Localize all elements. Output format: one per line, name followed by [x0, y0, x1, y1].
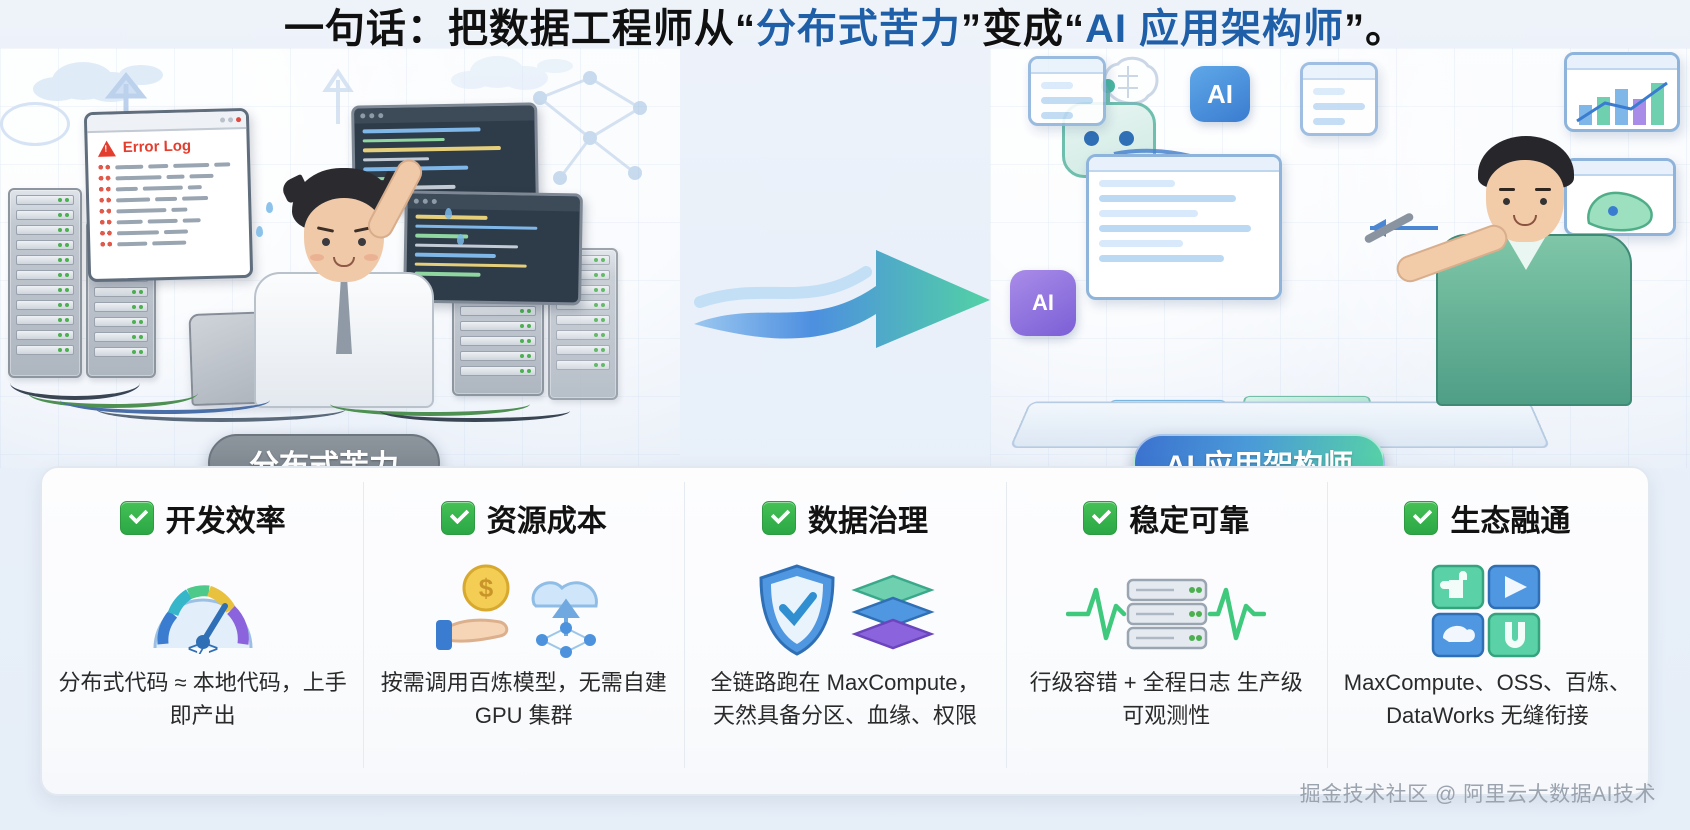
title-quote-open-2: “ — [1064, 7, 1085, 51]
check-icon — [1083, 501, 1117, 535]
puzzle-integration-icon — [1427, 560, 1547, 660]
card-header: 生态融通 — [1404, 496, 1570, 540]
illustration-left-before: Error Log — [0, 48, 680, 468]
stressed-engineer-figure — [248, 168, 458, 408]
benefit-card-ecosystem: 生态融通 MaxCompute、OSS、百炼、DataWorks 无缝衔接 — [1327, 468, 1648, 794]
label-pill-after: AI 应用架构师 — [1133, 434, 1385, 468]
bar-chart-icon — [1575, 77, 1675, 127]
card-title: 数据治理 — [808, 496, 928, 540]
benefits-card-panel: 开发效率 </> 分布式代码 ≈ 本地代码，上手即产出 — [40, 466, 1650, 796]
face — [304, 198, 384, 282]
main-dashboard-panel — [1086, 154, 1282, 300]
card-description: 按需调用百炼模型，无需自建 GPU 集群 — [379, 666, 669, 732]
title-quote-open: “ — [735, 7, 756, 51]
illustration-right-after: AI AI AI — [990, 48, 1690, 468]
sweat-drop-icon — [256, 226, 263, 237]
shield-check-layers-icon — [755, 560, 935, 660]
cloud-outline-icon — [0, 102, 70, 146]
title-period: 。 — [1365, 7, 1406, 51]
card-header: 开发效率 — [120, 496, 286, 540]
error-log-rows — [88, 158, 249, 247]
check-icon — [441, 501, 475, 535]
card-description: MaxCompute、OSS、百炼、DataWorks 无缝衔接 — [1342, 666, 1632, 732]
error-log-header: Error Log — [87, 129, 247, 162]
speed-gauge-code-icon: </> — [147, 560, 259, 660]
card-header: 数据治理 — [762, 496, 928, 540]
slide-canvas: 一句话：把数据工程师从“分布式苦力”变成“AI 应用架构师”。 — [0, 0, 1690, 830]
ai-badge: AI — [1190, 66, 1250, 122]
check-icon — [1404, 501, 1438, 535]
card-title: 资源成本 — [487, 496, 607, 540]
title-highlight-1: 分布式苦力 — [756, 7, 961, 51]
card-description: 分布式代码 ≈ 本地代码，上手即产出 — [58, 666, 348, 732]
check-icon — [120, 501, 154, 535]
benefit-card-dev-efficiency: 开发效率 </> 分布式代码 ≈ 本地代码，上手即产出 — [42, 468, 363, 794]
sweat-drop-icon — [445, 208, 452, 219]
error-log-label: Error Log — [123, 137, 192, 156]
card-description: 行级容错 + 全程日志 生产级可观测性 — [1021, 666, 1311, 732]
benefit-card-stability: 稳定可靠 — [1006, 468, 1327, 794]
dashboard-panel — [1028, 56, 1106, 126]
check-icon — [762, 501, 796, 535]
error-log-window: Error Log — [84, 108, 253, 282]
svg-text:$: $ — [479, 573, 494, 603]
dashboard-panel — [1300, 62, 1378, 136]
card-title: 稳定可靠 — [1129, 496, 1249, 540]
transformation-arrow — [690, 228, 1020, 358]
cloud-icon — [470, 56, 524, 88]
title-highlight-2: AI 应用架构师 — [1085, 7, 1344, 51]
svg-text:</>: </> — [187, 641, 218, 660]
title-segment-2: 变成 — [982, 7, 1064, 51]
hand-coin-cloud-icon: $ — [434, 560, 614, 660]
title-quote-close: ” — [961, 7, 982, 51]
brain-icon — [1098, 54, 1164, 114]
bar-chart-card — [1564, 52, 1680, 132]
warning-triangle-icon — [98, 140, 116, 156]
card-header: 资源成本 — [441, 496, 607, 540]
ai-architect-figure — [1420, 136, 1650, 406]
title-quote-close-2: ” — [1344, 7, 1365, 51]
network-graph-icon — [520, 68, 670, 198]
card-header: 稳定可靠 — [1083, 496, 1249, 540]
card-title: 开发效率 — [166, 496, 286, 540]
title-segment-1: 一句话：把数据工程师从 — [284, 7, 735, 51]
server-rack — [8, 188, 82, 378]
sweat-drop-icon — [457, 234, 464, 245]
label-pill-before: 分布式苦力 — [208, 434, 440, 468]
sweat-drop-icon — [266, 202, 273, 213]
card-description: 全链路跑在 MaxCompute，天然具备分区、血缘、权限 — [700, 666, 990, 732]
watermark: 掘金技术社区 @ 阿里云大数据AI技术 — [1300, 778, 1656, 808]
benefit-card-data-governance: 数据治理 全链路跑在 MaxCompute，天然具备分区、血缘、权限 — [684, 468, 1005, 794]
card-title: 生态融通 — [1450, 496, 1570, 540]
benefit-card-resource-cost: 资源成本 $ — [363, 468, 684, 794]
illustration-band: Error Log — [0, 48, 1690, 468]
server-heartbeat-icon — [1066, 560, 1266, 660]
